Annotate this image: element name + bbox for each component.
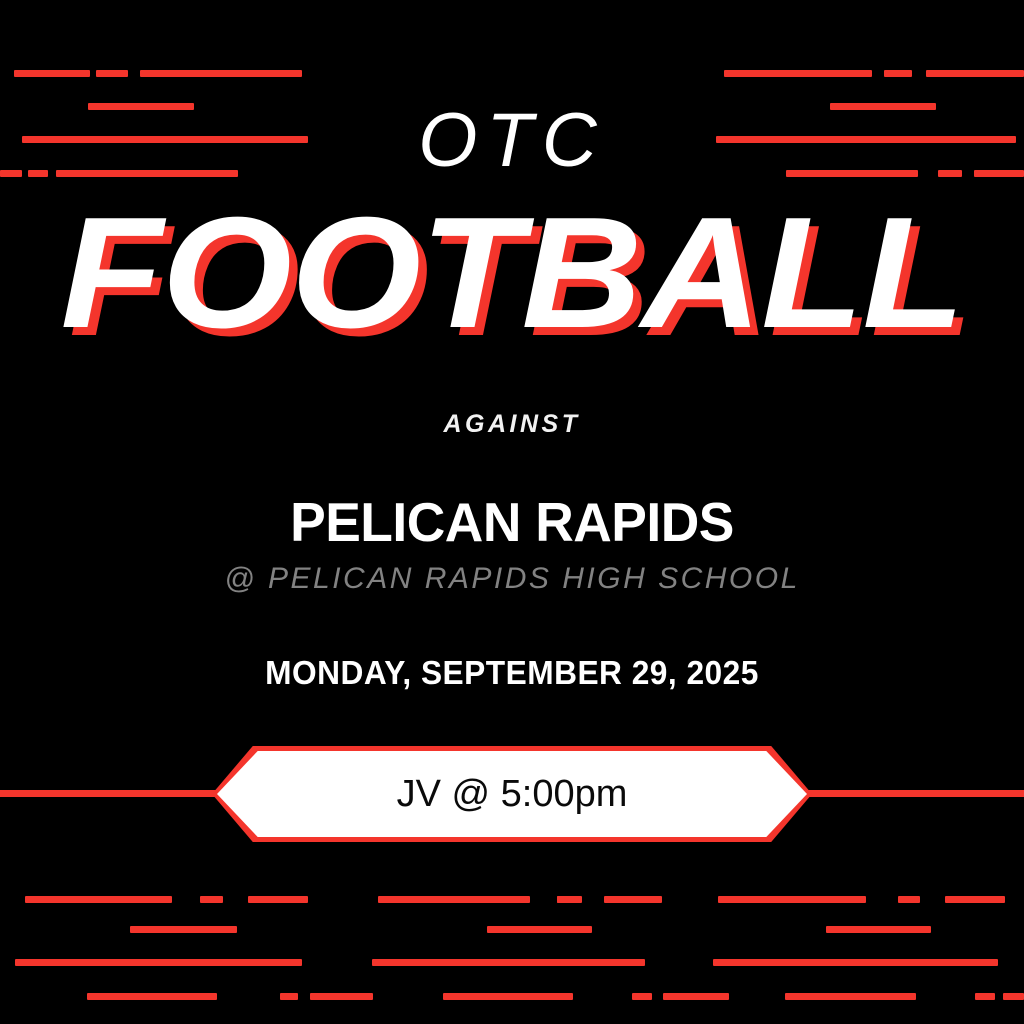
banner-rule-left xyxy=(0,790,222,797)
decorative-dash xyxy=(604,896,662,903)
decorative-dash xyxy=(713,959,998,966)
decorative-dash xyxy=(663,993,729,1000)
decorative-dash xyxy=(884,70,912,77)
decorative-dash xyxy=(785,993,916,1000)
hexagon-badge: JV @ 5:00pm xyxy=(212,746,812,842)
decorative-dash xyxy=(826,926,931,933)
decorative-dash xyxy=(557,896,569,903)
against-label: AGAINST xyxy=(0,408,1024,440)
decorative-dash xyxy=(1003,993,1024,1000)
sport-title: FOOTBALL xyxy=(60,198,963,348)
decorative-dash xyxy=(14,70,90,77)
decorative-dash xyxy=(487,926,592,933)
game-time-banner: JV @ 5:00pm xyxy=(0,740,1024,848)
decorative-dash xyxy=(248,896,308,903)
decorative-dash xyxy=(945,896,1005,903)
decorative-dash xyxy=(96,70,128,77)
decorative-dash xyxy=(280,993,298,1000)
decorative-dash xyxy=(898,896,920,903)
decorative-dash xyxy=(926,70,1024,77)
venue-location: @ PELICAN RAPIDS HIGH SCHOOL xyxy=(0,560,1024,598)
decorative-dash xyxy=(200,896,223,903)
decorative-dash xyxy=(443,993,573,1000)
decorative-dash xyxy=(975,993,995,1000)
decorative-dash xyxy=(15,959,302,966)
decorative-dash xyxy=(632,993,652,1000)
game-announcement-poster: OTC FOOTBALL AGAINST PELICAN RAPIDS @ PE… xyxy=(0,0,1024,1024)
opponent-name: PELICAN RAPIDS xyxy=(15,492,1008,552)
organization-title: OTC xyxy=(0,96,1024,186)
decorative-dash xyxy=(25,896,172,903)
decorative-dash xyxy=(557,896,569,903)
decorative-dash xyxy=(378,896,530,903)
decorative-dash xyxy=(130,926,237,933)
banner-rule-right xyxy=(802,790,1024,797)
sport-title-container: FOOTBALL xyxy=(0,198,1024,348)
decorative-dash xyxy=(718,896,866,903)
game-date: MONDAY, SEPTEMBER 29, 2025 xyxy=(20,652,1003,694)
decorative-dash xyxy=(140,70,302,77)
decorative-dash xyxy=(724,70,872,77)
decorative-dash xyxy=(560,896,582,903)
decorative-dash xyxy=(87,993,217,1000)
game-time-text: JV @ 5:00pm xyxy=(212,746,812,842)
decorative-dash xyxy=(310,993,373,1000)
decorative-dash xyxy=(372,959,645,966)
